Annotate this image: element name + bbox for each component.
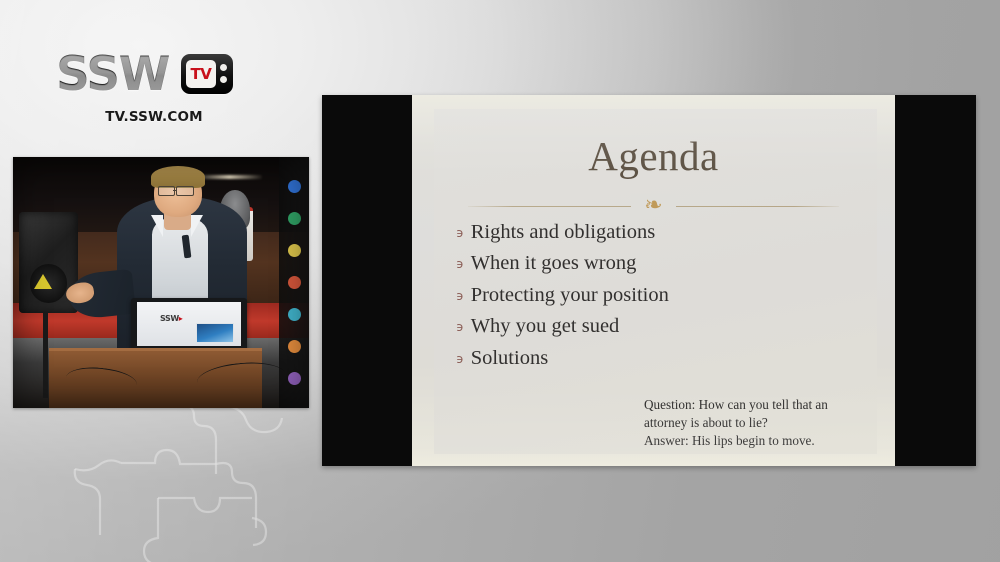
ssw-wordmark: SSW xyxy=(56,51,169,98)
bullet-label: When it goes wrong xyxy=(471,252,637,275)
slide-joke-question: Question: How can you tell that an attor… xyxy=(644,396,869,432)
site-url-label: TV.SSW.COM xyxy=(56,109,252,125)
ssw-tv-logo: SSW TV TV.SSW.COM xyxy=(56,48,274,125)
slide-letterbox-frame: Agenda ❧ ϶ Rights and obligations ϶ When… xyxy=(322,95,976,466)
bullet-ornament-icon: ϶ xyxy=(456,257,464,271)
slide-joke-block: Question: How can you tell that an attor… xyxy=(644,396,869,450)
list-item: ϶ Why you get sued xyxy=(456,315,871,338)
tv-screen: TV xyxy=(186,60,216,88)
video-vignette xyxy=(13,157,309,408)
slide-title: Agenda xyxy=(412,136,895,177)
presentation-slide[interactable]: Agenda ❧ ϶ Rights and obligations ϶ When… xyxy=(412,95,895,466)
bullet-label: Protecting your position xyxy=(471,284,669,307)
tv-knob-upper-icon xyxy=(220,64,227,71)
bullet-label: Solutions xyxy=(471,347,548,370)
bullet-ornament-icon: ϶ xyxy=(456,289,464,303)
tv-icon: TV xyxy=(181,54,233,94)
screenshot-stage: SSW TV TV.SSW.COM xyxy=(0,0,1000,562)
list-item: ϶ Protecting your position xyxy=(456,284,871,307)
bullet-label: Why you get sued xyxy=(471,315,620,338)
bullet-label: Rights and obligations xyxy=(471,221,656,244)
slide-title-divider: ❧ xyxy=(468,195,839,217)
list-item: ϶ When it goes wrong xyxy=(456,252,871,275)
presenter-video-thumbnail[interactable]: SSW▸ xyxy=(13,157,309,408)
bullet-ornament-icon: ϶ xyxy=(456,320,464,334)
tv-knob-lower-icon xyxy=(220,76,227,83)
slide-divider-ornament-icon: ❧ xyxy=(631,194,675,216)
slide-joke-answer: Answer: His lips begin to move. xyxy=(644,432,869,450)
bullet-ornament-icon: ϶ xyxy=(456,352,464,366)
list-item: ϶ Solutions xyxy=(456,347,871,370)
bullet-ornament-icon: ϶ xyxy=(456,226,464,240)
list-item: ϶ Rights and obligations xyxy=(456,221,871,244)
slide-bullet-list: ϶ Rights and obligations ϶ When it goes … xyxy=(456,221,871,378)
tv-badge-label: TV xyxy=(191,67,212,82)
